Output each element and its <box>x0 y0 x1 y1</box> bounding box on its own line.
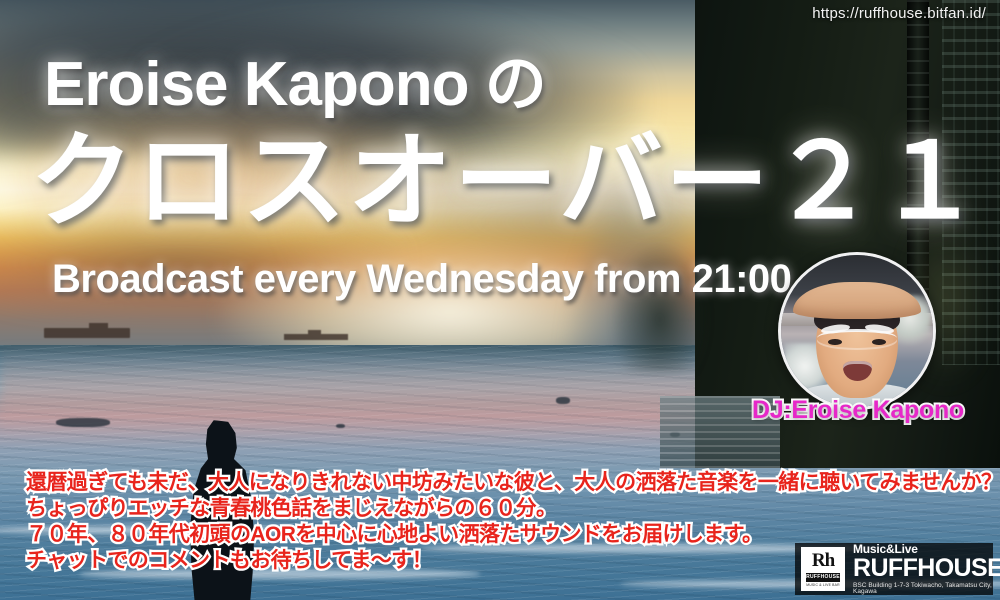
monogram-subtitle: MUSIC & LIVE BAR <box>806 583 840 587</box>
logo-brand-name: RUFFHOUSE <box>853 555 1000 581</box>
horizon-ship-left <box>44 328 130 338</box>
swimmer-silhouette <box>556 397 570 404</box>
broadcast-schedule-subtitle: Broadcast every Wednesday from 21:00 <box>52 257 791 302</box>
program-title-line-1: Eroise Kapono の <box>44 54 546 116</box>
site-url-overlay[interactable]: https://ruffhouse.bitfan.id/ <box>812 5 986 22</box>
horizon-ship-center <box>284 334 348 341</box>
ruffhouse-monogram-icon: Rh RUFFHOUSE MUSIC & LIVE BAR <box>801 547 845 591</box>
dj-portrait-photo <box>778 252 936 410</box>
program-title-line-2: クロスオーバー２１ <box>30 128 983 237</box>
monogram-name-bar: RUFFHOUSE <box>806 573 840 582</box>
ruffhouse-logo-panel[interactable]: Rh RUFFHOUSE MUSIC & LIVE BAR Music&Live… <box>795 543 993 595</box>
portrait-eye-right <box>872 339 886 345</box>
logo-tagline: Music&Live <box>853 543 1000 555</box>
portrait-glasses <box>817 329 896 347</box>
description-line: 還暦過ぎても未だ、大人になりきれない中坊みたいな彼と、大人の洒落た音楽を一緒に聴… <box>26 470 1000 496</box>
portrait-eye-left <box>828 339 842 345</box>
monogram-letters: Rh <box>812 552 834 570</box>
description-line: ちょっぴりエッチな青春桃色話をまじえながらの６０分。 <box>26 496 1000 522</box>
logo-address: BSC Building 1-7-3 Tokiwacho, Takamatsu … <box>853 583 1000 596</box>
poster-canvas: https://ruffhouse.bitfan.id/ Eroise Kapo… <box>0 0 1000 600</box>
ruffhouse-logo-text: Music&Live RUFFHOUSE BSC Building 1-7-3 … <box>853 543 1000 596</box>
dj-name-label: DJ:Eroise Kapono <box>752 396 964 425</box>
surfer-silhouette <box>56 418 110 427</box>
